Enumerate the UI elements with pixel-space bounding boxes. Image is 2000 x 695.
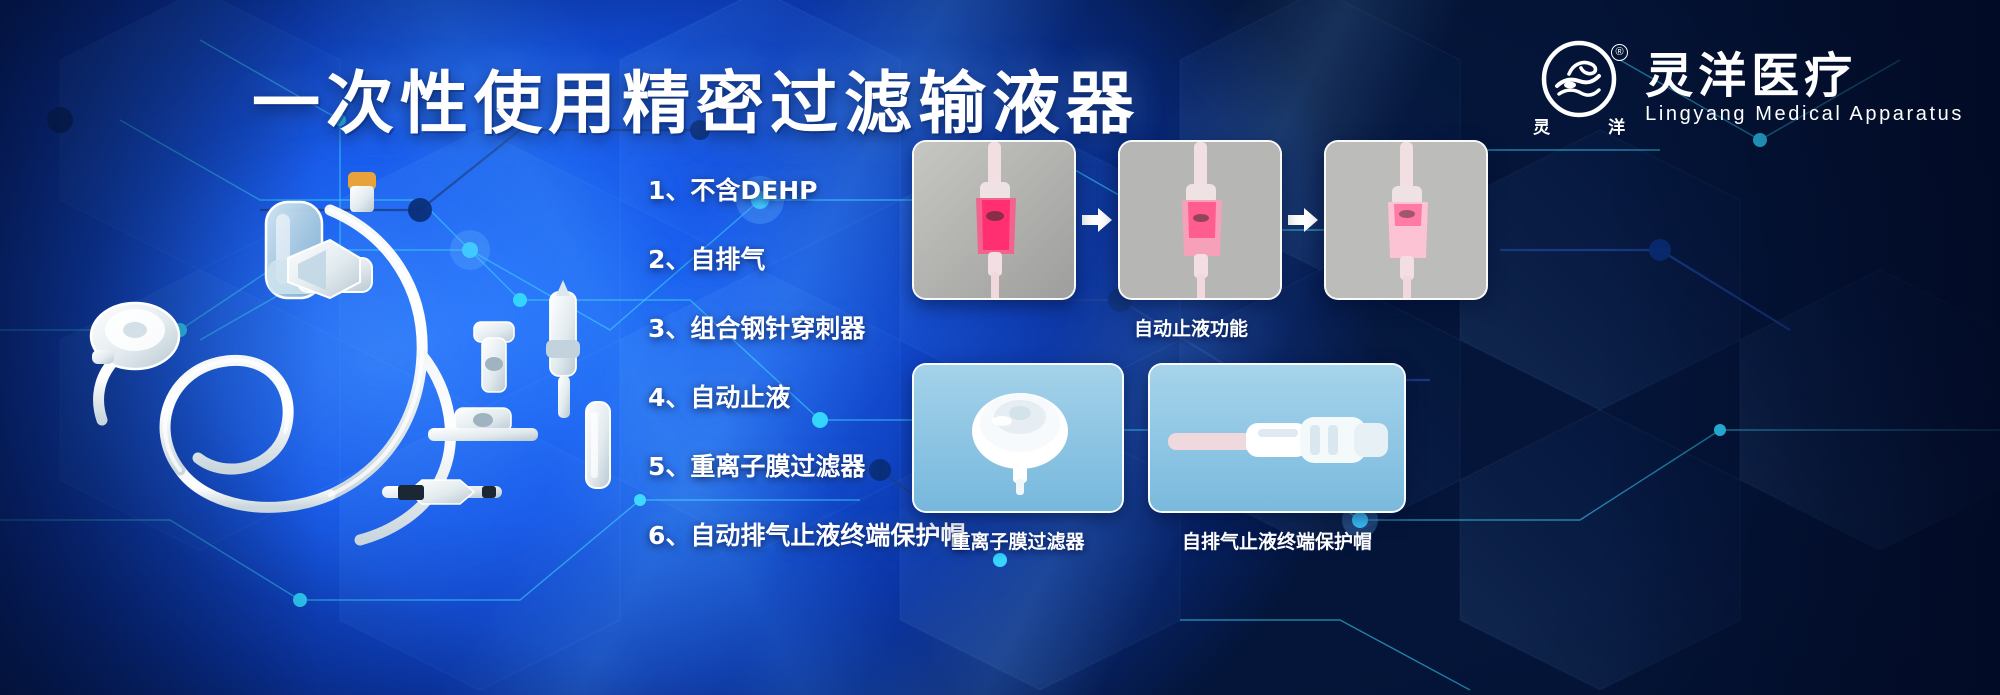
feature-item-2: 2、自排气 [648, 247, 948, 272]
filter-card-caption: 重离子膜过滤器 [912, 527, 1124, 554]
brand-logo: ® 灵 洋 灵洋医疗 Lingyang Medical Apparatus [1533, 40, 1964, 136]
brand-text-block: 灵洋医疗 Lingyang Medical Apparatus [1645, 52, 1964, 124]
brand-mark-char-right: 洋 [1608, 113, 1625, 138]
feature-item-1: 1、不含DEHP [648, 178, 948, 203]
brand-name-cn: 灵洋医疗 [1645, 52, 1964, 100]
page-title: 一次性使用精密过滤输液器 [252, 48, 1140, 147]
registered-mark-icon: ® [1611, 44, 1628, 61]
filter-card-photo [912, 363, 1124, 513]
brand-mark-characters: 灵 洋 [1533, 113, 1625, 138]
auto-stop-step-2-photo [1118, 140, 1282, 300]
feature-item-5: 5、重离子膜过滤器 [648, 454, 948, 479]
auto-stop-step-1-photo [912, 140, 1076, 300]
brand-mark-char-left: 灵 [1533, 113, 1550, 138]
protective-cap-card-caption: 自排气止液终端保护帽 [1148, 527, 1406, 554]
feature-item-4: 4、自动止液 [648, 385, 948, 410]
brand-name-en: Lingyang Medical Apparatus [1645, 104, 1964, 124]
arrow-right-icon-1 [1076, 206, 1118, 234]
feature-item-3: 3、组合钢针穿刺器 [648, 316, 948, 341]
arrow-right-icon-2 [1282, 206, 1324, 234]
photo-gallery: 自动止液功能 [912, 140, 1972, 554]
bottom-cards-captions: 重离子膜过滤器 自排气止液终端保护帽 [912, 527, 1972, 554]
protective-cap-card-photo [1148, 363, 1406, 513]
bottom-cards-row [912, 363, 1972, 513]
auto-stop-step-3-photo [1324, 140, 1488, 300]
feature-item-6: 6、自动排气止液终端保护帽 [648, 523, 948, 548]
feature-list: 1、不含DEHP 2、自排气 3、组合钢针穿刺器 4、自动止液 5、重离子膜过滤… [648, 178, 948, 548]
wave-emblem-logo-icon: ® 灵 洋 [1533, 40, 1625, 136]
auto-stop-sequence-caption: 自动止液功能 [912, 314, 1470, 341]
auto-stop-sequence-row [912, 140, 1972, 300]
infusion-set-product-photo [30, 140, 670, 560]
banner-stage: 一次性使用精密过滤输液器 ® 灵 洋 灵洋医疗 Lingyang Medical… [0, 0, 2000, 695]
